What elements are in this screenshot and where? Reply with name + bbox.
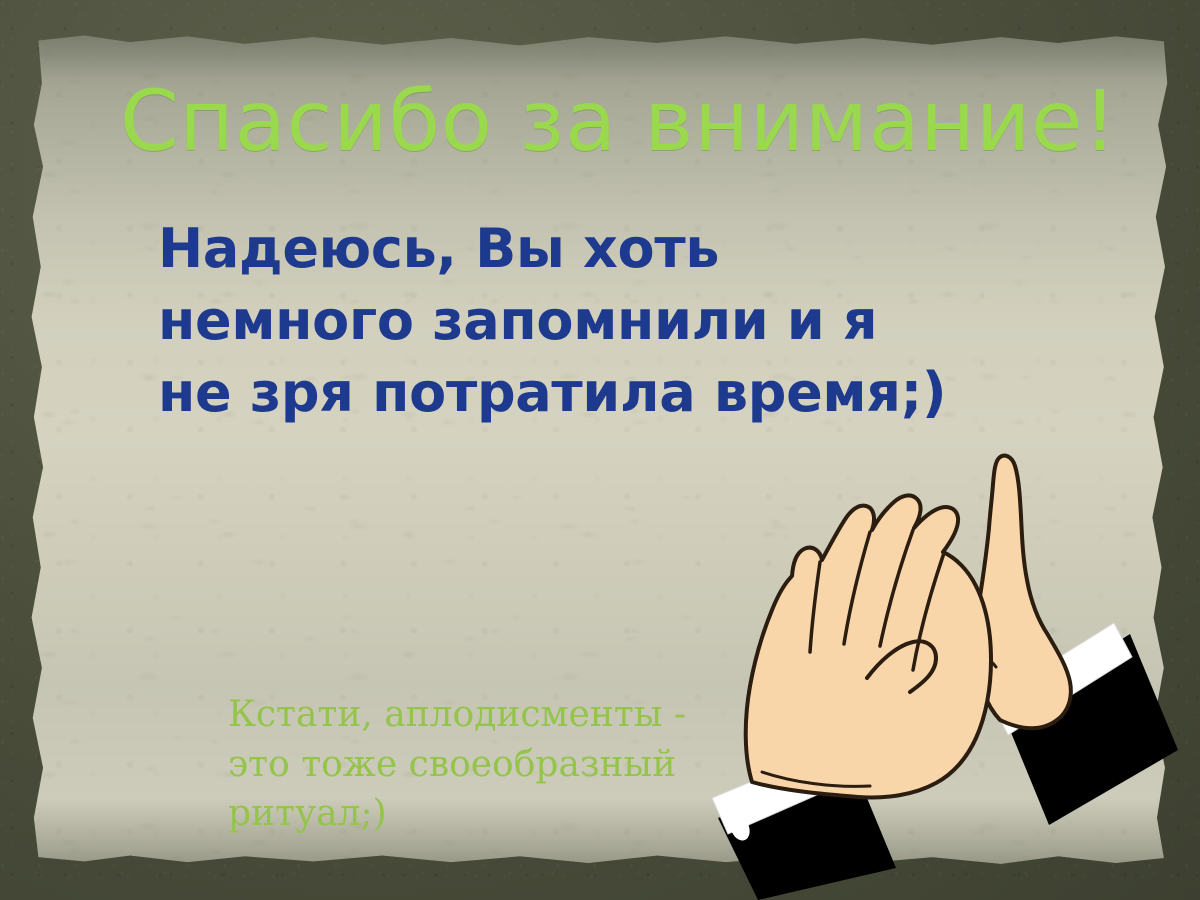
subtitle-line-1: Надеюсь, Вы хоть: [158, 213, 988, 285]
footnote-line-3: ритуал;): [228, 789, 788, 839]
slide-title: Спасибо за внимание!: [120, 78, 1120, 165]
slide-footnote: Кстати, аплодисменты - это тоже своеобра…: [228, 690, 788, 839]
slide-subtitle: Надеюсь, Вы хоть немного запомнили и я н…: [158, 213, 988, 428]
presentation-slide: Спасибо за внимание! Надеюсь, Вы хоть не…: [0, 0, 1200, 900]
footnote-line-2: это тоже своеобразный: [228, 740, 788, 790]
subtitle-line-2: немного запомнили и я: [158, 285, 988, 357]
subtitle-line-3: не зря потратила время;): [158, 357, 988, 429]
footnote-line-1: Кстати, аплодисменты -: [228, 690, 788, 740]
